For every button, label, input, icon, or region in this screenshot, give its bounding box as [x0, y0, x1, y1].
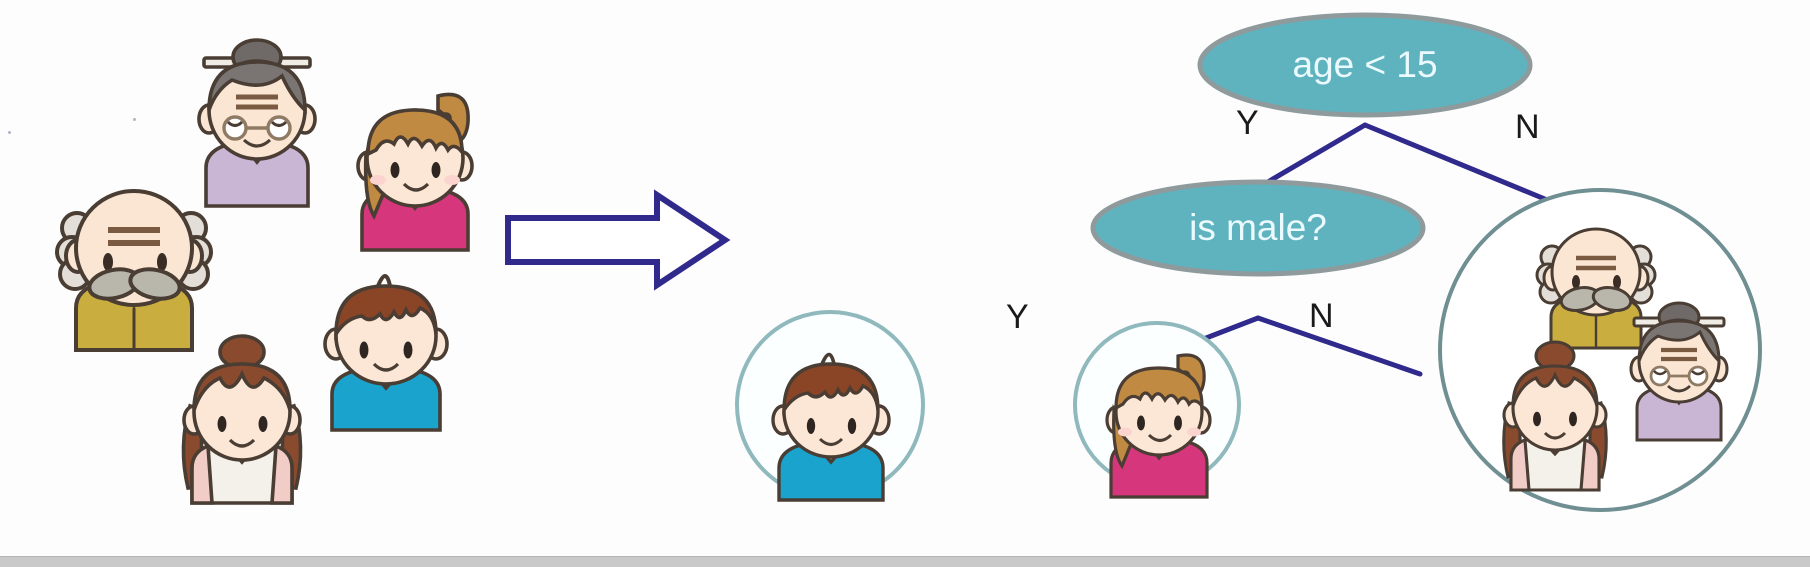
person-grandma: [192, 36, 322, 206]
footer-bar: [0, 556, 1810, 567]
leaf-boy-person: [766, 340, 896, 500]
diagram-canvas: age < 15 is male?: [0, 0, 1810, 567]
leaf-adults-grandma: [1625, 300, 1733, 440]
decision-tree: age < 15 is male?: [720, 0, 1810, 560]
edge-label-male-yes: Y: [1006, 298, 1029, 337]
leaf-adults-young-girl: [1494, 335, 1616, 490]
left-population-group: [20, 10, 500, 510]
transform-arrow: [505, 190, 730, 290]
node-is-male-label: is male?: [1189, 207, 1327, 248]
edge-label-male-no: N: [1309, 297, 1334, 336]
person-boy: [316, 260, 456, 430]
node-root-label: age < 15: [1292, 44, 1437, 85]
person-teen-girl: [350, 80, 480, 250]
stray-dot-2: [8, 131, 11, 134]
person-young-girl: [172, 328, 312, 503]
stray-dot-1: [133, 118, 136, 121]
arrow-right-icon: [508, 195, 725, 285]
edge-male-no: [1258, 318, 1420, 374]
edge-label-root-yes: Y: [1236, 104, 1259, 143]
edge-label-root-no: N: [1515, 108, 1540, 147]
leaf-girl-person: [1100, 342, 1218, 497]
